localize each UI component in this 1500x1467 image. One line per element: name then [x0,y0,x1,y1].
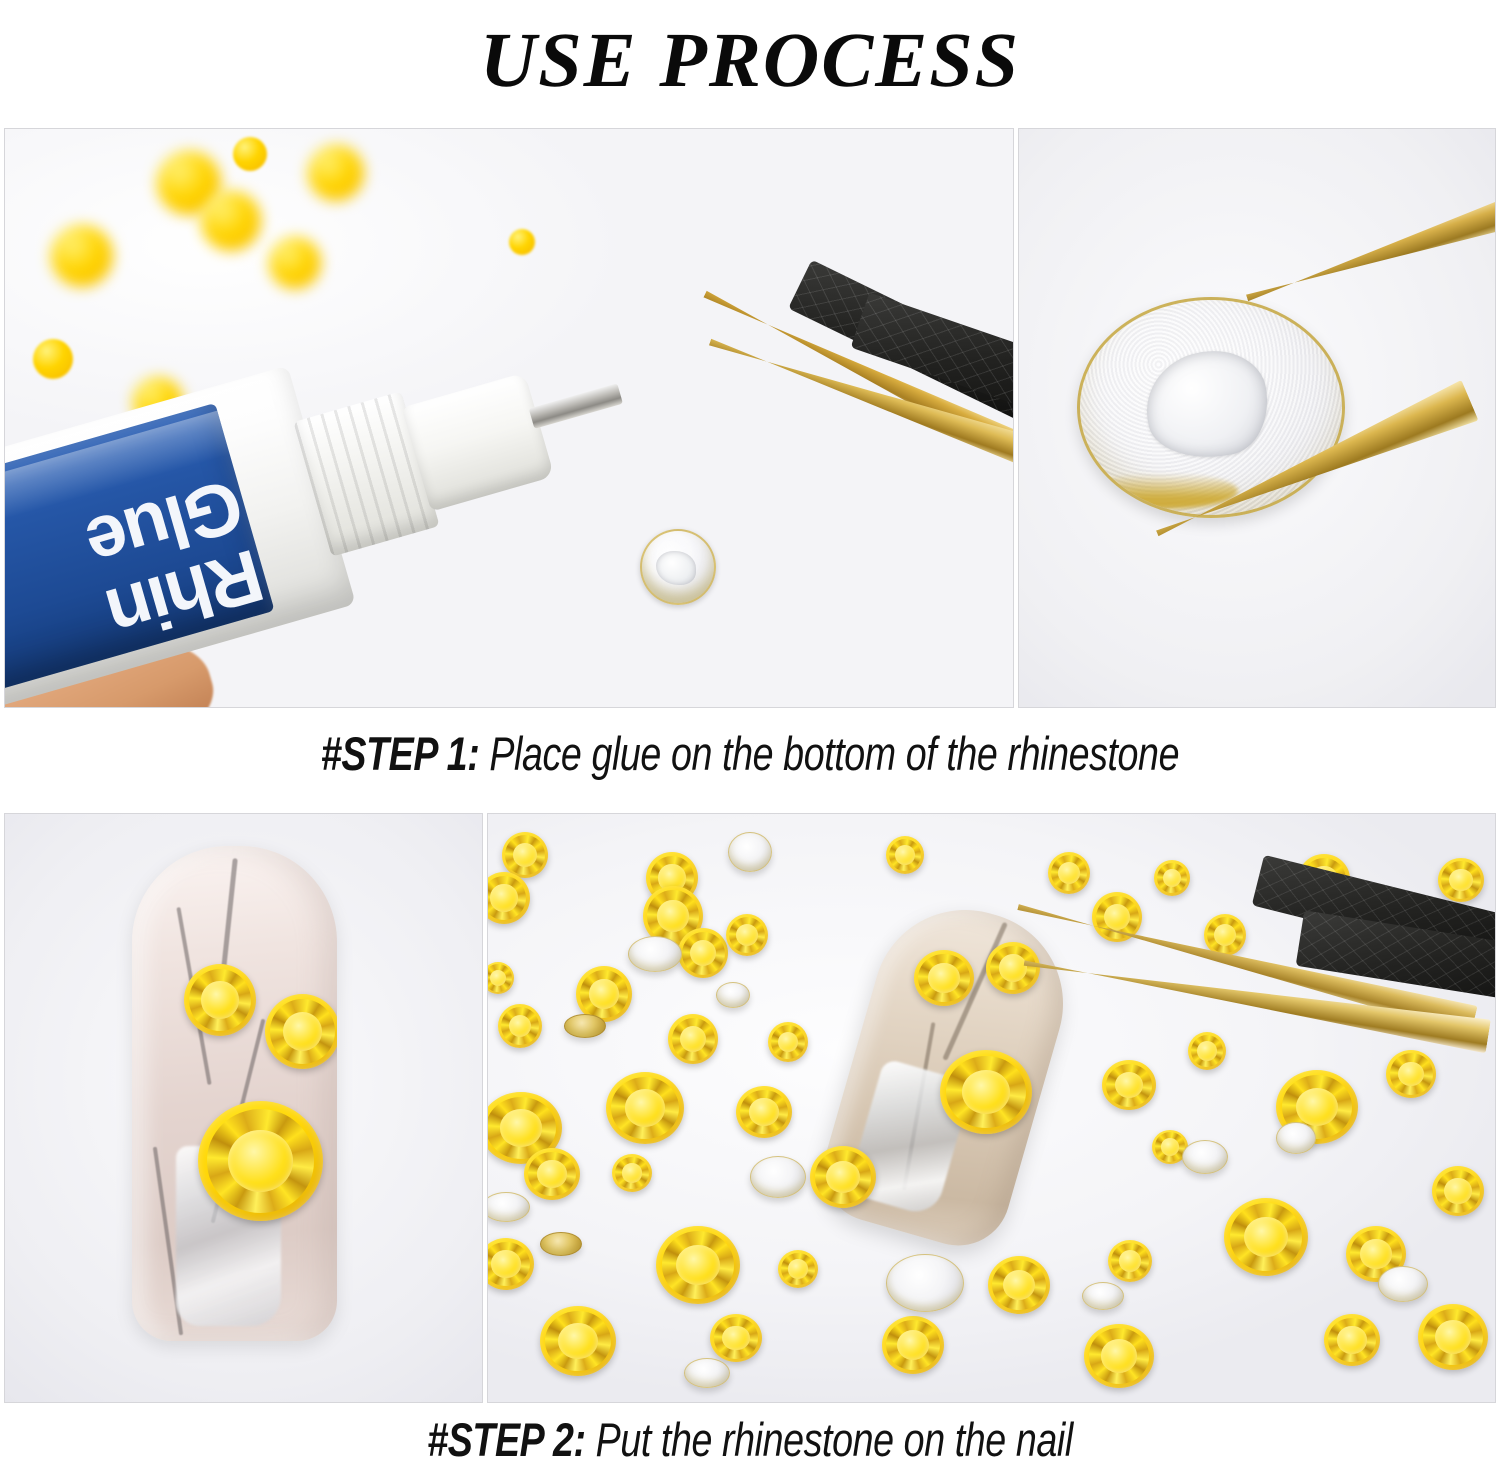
loose-rhinestone [1084,1324,1154,1388]
loose-rhinestone [524,1148,580,1200]
loose-rhinestone [736,1086,792,1138]
rhinestone-gold-rim [1088,473,1238,509]
rhinestone-on-nail [940,1050,1032,1134]
rhinestone-on-nail [198,1101,323,1221]
loose-rhinestone [768,1022,808,1062]
rhinestone-flat-back [628,936,682,972]
rhinestone-with-glue [1077,297,1345,518]
loose-rhinestone [726,914,768,956]
rhinestone-receiving-glue [640,529,716,605]
rhinestone-on-nail [986,942,1040,994]
rhinestone-flat-back [1276,1122,1316,1154]
loose-rhinestone [1108,1240,1152,1282]
loose-rhinestone [1204,914,1246,956]
loose-rhinestone [668,1014,718,1064]
loose-rhinestone [612,1154,652,1192]
decorated-press-on-nail [132,846,337,1341]
glue-application-photo: Rhin Glue [4,128,1014,708]
blurred-rhinestone-bead [269,237,321,289]
loose-rhinestone [678,928,728,978]
rhinestone-flat-back [750,1156,806,1198]
blurred-rhinestone-bead [33,339,73,379]
loose-rhinestone [1418,1304,1488,1370]
loose-rhinestone [1224,1198,1308,1276]
loose-rhinestone [1438,858,1484,902]
loose-rhinestone [1102,1060,1156,1110]
loose-rhinestone [498,1004,542,1048]
page-title: USE PROCESS [0,0,1500,120]
step-2-label: #STEP 2: [427,1413,585,1466]
finished-nail-photo [4,813,483,1403]
rhinestone-on-nail [914,950,974,1006]
loose-rhinestone [1386,1050,1436,1098]
rhinestone-flat-back [564,1014,606,1038]
rhinestone-flat-back [1182,1140,1228,1174]
loose-rhinestone [1154,860,1190,896]
loose-rhinestone [656,1226,740,1304]
rhinestone-scatter-photo [487,813,1496,1403]
rhinestone-on-nail [265,994,337,1069]
rhinestone-flat-back [716,982,750,1008]
blurred-rhinestone-bead [233,137,267,171]
loose-rhinestone [1324,1314,1380,1366]
loose-rhinestone [778,1250,818,1288]
rhinestone-flat-back [1082,1282,1124,1310]
step-1-caption: #STEP 1: Place glue on the bottom of the… [150,726,1350,781]
rhinestone-flat-back [540,1232,582,1256]
blurred-rhinestone-bead [308,145,364,201]
rhinestone-flat-back [1378,1266,1428,1302]
step-2-caption: #STEP 2: Put the rhinestone on the nail [150,1412,1350,1467]
blurred-rhinestone-bead [201,191,261,251]
rhinestone-flat-back [886,1254,964,1312]
blurred-rhinestone-bead [509,229,535,255]
loose-rhinestone [540,1306,616,1376]
step-1-text: Place glue on the bottom of the rhinesto… [479,727,1179,780]
rhinestone-flat-back [728,832,772,872]
loose-rhinestone [886,836,924,874]
loose-rhinestone [710,1314,762,1362]
loose-rhinestone [810,1146,876,1208]
glue-drop [656,551,696,585]
loose-rhinestone [988,1256,1050,1314]
rhinestone-flat-back [684,1358,730,1388]
loose-rhinestone [1432,1166,1484,1216]
blurred-rhinestone-bead [51,225,113,287]
loose-rhinestone [1188,1032,1226,1070]
glued-rhinestone-closeup-photo [1018,128,1496,708]
rhinestone-on-nail [184,964,256,1036]
loose-rhinestone [882,1316,944,1374]
loose-rhinestone [502,832,548,878]
loose-rhinestone [1048,852,1090,894]
step-2-text: Put the rhinestone on the nail [586,1413,1073,1466]
step-1-label: #STEP 1: [321,727,479,780]
loose-rhinestone [606,1072,684,1144]
